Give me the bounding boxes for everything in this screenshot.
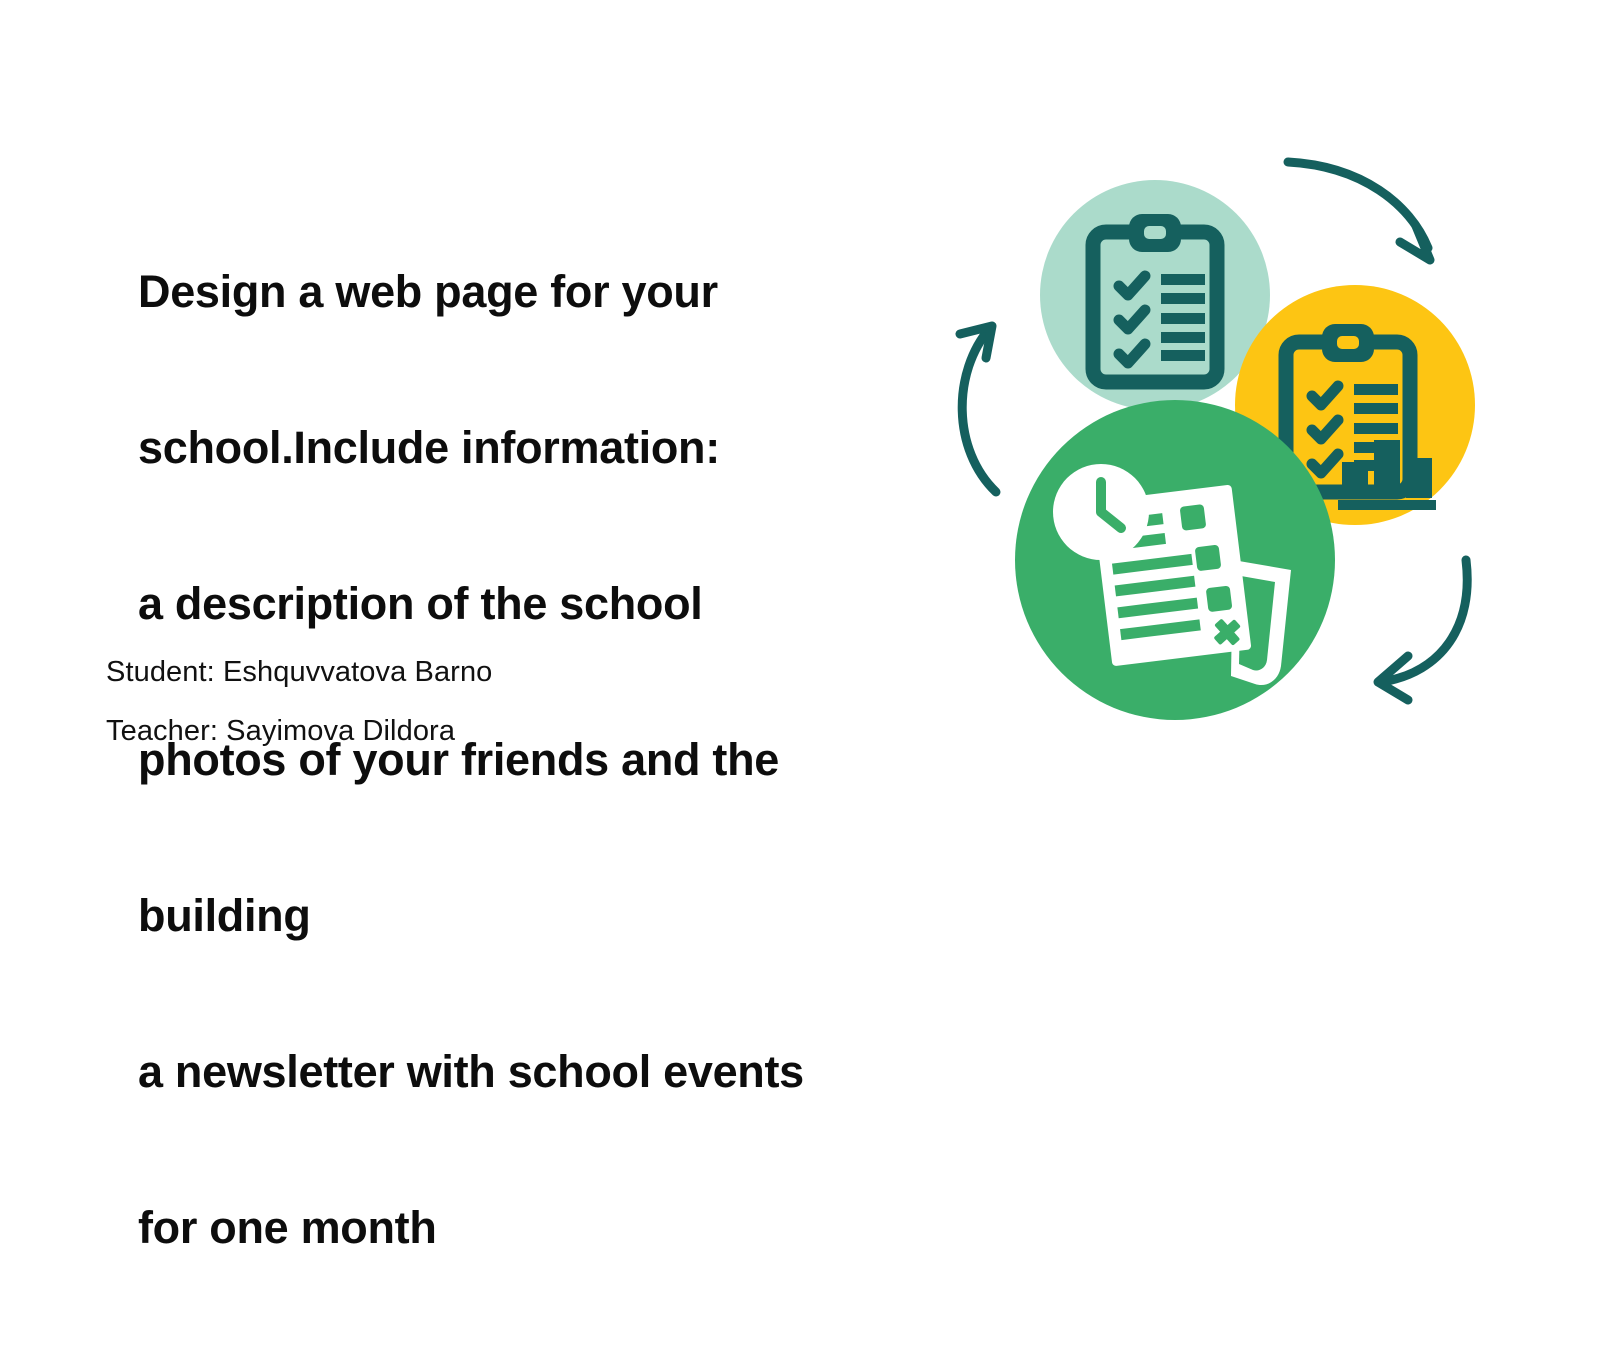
arrow-bottom-right-icon [1378,560,1467,700]
arrow-left-icon [960,326,996,492]
credits-block: Student: Eshquvvatova Barno Teacher: Say… [106,655,806,748]
three-circles-cycle-graphic [930,120,1550,760]
page-title: Design a web page for your school.Includ… [138,162,928,1358]
teacher-name-line: Teacher: Sayimova Dildora [106,714,806,748]
arrow-top-icon [1288,162,1430,260]
green-circle [1015,400,1335,720]
headline-line-2: school.Include information: [138,422,928,474]
headline-line-6: a newsletter with school events [138,1046,928,1098]
slide-canvas: Design a web page for your school.Includ… [0,0,1600,900]
headline-line-7: for one month [138,1202,928,1254]
headline-line-1: Design a web page for your [138,266,928,318]
student-name-line: Student: Eshquvvatova Barno [106,655,806,689]
mint-circle [1040,180,1270,410]
headline-line-5: building [138,890,928,942]
text-column: Design a web page for your school.Includ… [106,0,936,900]
clock-icon [1053,464,1149,560]
headline-line-3: a description of the school [138,578,928,630]
